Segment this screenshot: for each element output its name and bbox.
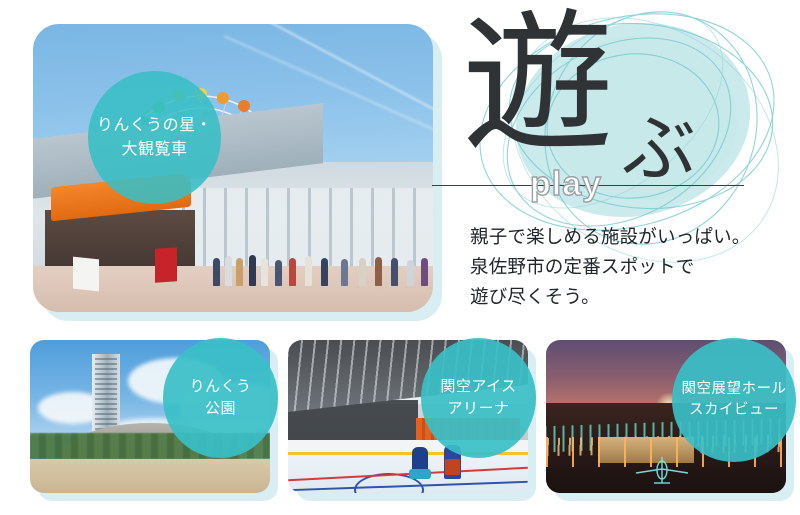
lede-line-2: 泉佐野市の定番スポットで — [470, 252, 800, 282]
badge-line-2: 公園 — [205, 398, 236, 420]
parked-aircraft — [632, 453, 692, 487]
red-a-board-sign — [155, 247, 177, 283]
title-romaji: play — [530, 165, 602, 204]
lede-line-1: 親子で楽しめる施設がいっぱい。 — [470, 222, 800, 252]
mascot-skater-1 — [412, 447, 428, 477]
play-section-banner: りんくうの星・ 大観覧車 遊 ぶ play 親子で楽しめる施設がいっぱい。 泉佐… — [0, 0, 800, 515]
badge-line-1: りんくう — [190, 376, 252, 398]
badge-line-2: スカイビュー — [689, 400, 779, 421]
badge-line-2: アリーナ — [447, 398, 509, 420]
thumb-badge-skyview: 関空展望ホール スカイビュー — [672, 338, 796, 462]
seacle-mall-building — [33, 162, 433, 312]
lede-copy: 親子で楽しめる施設がいっぱい。 泉佐野市の定番スポットで 遊び尽くそう。 — [470, 222, 800, 312]
title-kanji: 遊 — [462, 8, 614, 160]
hero-badge-line-2: 大観覧車 — [121, 138, 187, 161]
badge-line-1: 関空アイス — [440, 376, 516, 398]
hero-photo[interactable]: りんくうの星・ 大観覧車 — [33, 24, 433, 312]
thumbnail-card-kanku-skyview[interactable]: 関空展望ホール スカイビュー — [546, 340, 800, 505]
thumbnail-card-kanku-ice-arena[interactable]: 関空アイス アリーナ — [288, 340, 544, 505]
lede-line-3: 遊び尽くそう。 — [470, 282, 800, 312]
title-okurigana: ぶ — [622, 112, 696, 186]
thumbnail-card-rinku-park[interactable]: りんくう 公園 — [30, 340, 286, 505]
thumb-badge-ice-arena: 関空アイス アリーナ — [421, 338, 536, 458]
hero-badge: りんくうの星・ 大観覧車 — [88, 71, 221, 204]
thumb-badge-rinku-park: りんくう 公園 — [163, 338, 278, 458]
badge-line-1: 関空展望ホール — [682, 379, 787, 400]
visitors-crowd — [209, 234, 433, 286]
sunset-beach-sand — [30, 459, 270, 493]
white-sign — [73, 257, 99, 292]
hero-badge-line-1: りんくうの星・ — [97, 114, 212, 137]
